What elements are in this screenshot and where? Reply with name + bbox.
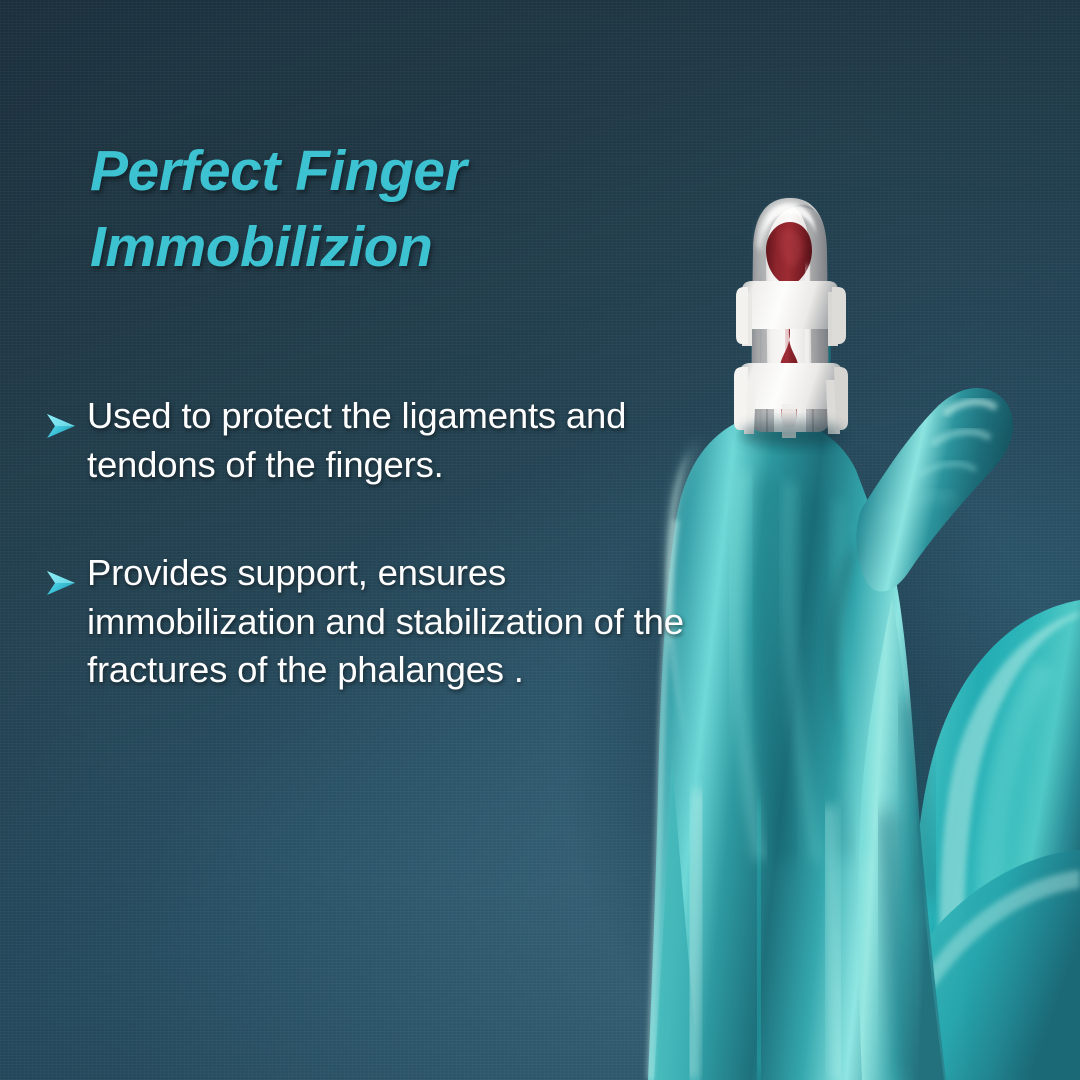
feature-list: Used to protect the ligaments and tendon… [46, 392, 726, 695]
list-item-label: Provides support, ensures immobilization… [87, 549, 726, 695]
arrowhead-bullet-icon [46, 560, 76, 586]
arrowhead-bullet-icon [46, 403, 76, 429]
product-poster: Perfect Finger Immobilizion [0, 0, 1080, 1080]
headline-line-1: Perfect Finger [90, 134, 710, 210]
list-item: Used to protect the ligaments and tendon… [46, 392, 726, 489]
list-item: Provides support, ensures immobilization… [46, 549, 726, 695]
page-title: Perfect Finger Immobilizion [90, 134, 710, 286]
list-item-label: Used to protect the ligaments and tendon… [87, 392, 726, 489]
headline-line-2: Immobilizion [90, 210, 710, 286]
